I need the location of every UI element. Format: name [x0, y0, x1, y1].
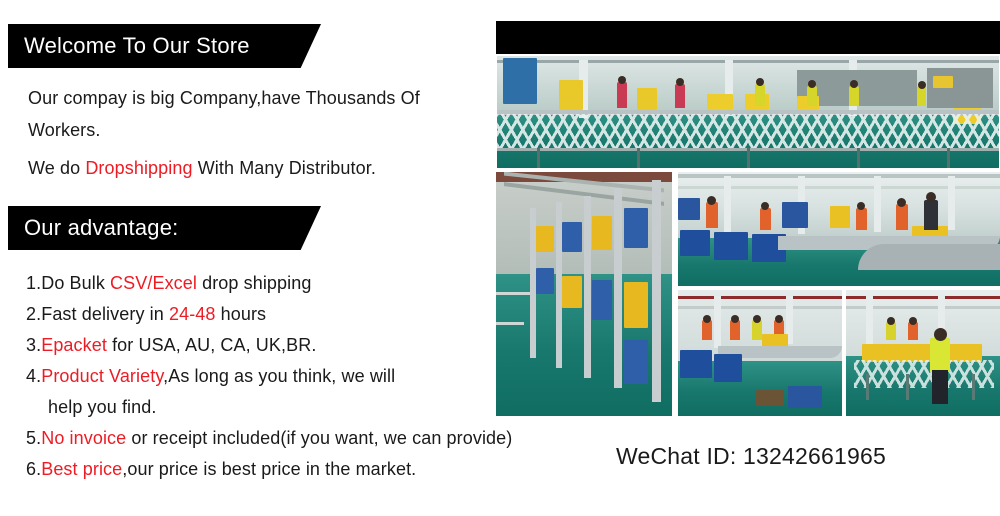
warehouse-photo-sorting-conveyor [678, 172, 1000, 286]
warehouse-photo-panorama-conveyor [497, 56, 999, 168]
warehouse-photo-collage: Our Warehouse [496, 21, 1000, 416]
warehouse-banner: Our Warehouse [496, 21, 1000, 54]
advantage-list: 1.Do Bulk CSV/Excel drop shipping 2.Fast… [26, 268, 512, 485]
welcome-banner: Welcome To Our Store [8, 24, 321, 68]
list-item: 6.Best price,our price is best price in … [26, 454, 512, 485]
list-item-highlight: Best price [41, 459, 122, 479]
advantage-banner-label: Our advantage: [8, 215, 178, 241]
intro-line-1: Our compay is big Company,have Thousands… [28, 88, 420, 109]
warehouse-photo-worker-yellow-vest [846, 290, 1000, 416]
list-item: 5.No invoice or receipt included(if you … [26, 423, 512, 454]
intro-line-3-highlight: Dropshipping [85, 158, 192, 178]
warehouse-photo-storage-racks [496, 172, 672, 416]
list-item-post: ,As long as you think, we will [163, 366, 395, 386]
list-item-post: ,our price is best price in the market. [122, 459, 416, 479]
list-item: 1.Do Bulk CSV/Excel drop shipping [26, 268, 512, 299]
list-item-highlight: Product Variety [41, 366, 163, 386]
intro-line-2: Workers. [28, 120, 100, 141]
list-item-highlight: CSV/Excel [110, 273, 197, 293]
welcome-banner-label: Welcome To Our Store [8, 33, 250, 59]
list-item-pre: Fast delivery in [41, 304, 169, 324]
list-item-number: 1. [26, 273, 41, 293]
list-item: 4.Product Variety,As long as you think, … [26, 361, 512, 423]
list-item-number: 4. [26, 366, 41, 386]
list-item-highlight: 24-48 [169, 304, 216, 324]
list-item-number: 3. [26, 335, 41, 355]
list-item-number: 6. [26, 459, 41, 479]
list-item: 3.Epacket for USA, AU, CA, UK,BR. [26, 330, 512, 361]
warehouse-banner-label: Our Warehouse [669, 26, 827, 50]
advantage-banner: Our advantage: [8, 206, 321, 250]
list-item-post: for USA, AU, CA, UK,BR. [107, 335, 316, 355]
list-item-number: 5. [26, 428, 41, 448]
intro-line-3-post: With Many Distributor. [193, 158, 376, 178]
list-item: 2.Fast delivery in 24-48 hours [26, 299, 512, 330]
warehouse-photo-packing-stations [678, 290, 842, 416]
list-item-post: hours [216, 304, 267, 324]
product-description-banner: Welcome To Our Store Our compay is big C… [0, 0, 1000, 516]
list-item-highlight: No invoice [41, 428, 126, 448]
list-item-highlight: Epacket [41, 335, 107, 355]
list-item-post: or receipt included(if you want, we can … [126, 428, 512, 448]
list-item-post: drop shipping [197, 273, 311, 293]
intro-line-3-pre: We do [28, 158, 85, 178]
wechat-id-text: WeChat ID: 13242661965 [616, 443, 886, 470]
list-item-number: 2. [26, 304, 41, 324]
intro-line-3: We do Dropshipping With Many Distributor… [28, 158, 376, 179]
list-item-continuation: help you find. [26, 392, 512, 423]
list-item-pre: Do Bulk [41, 273, 110, 293]
